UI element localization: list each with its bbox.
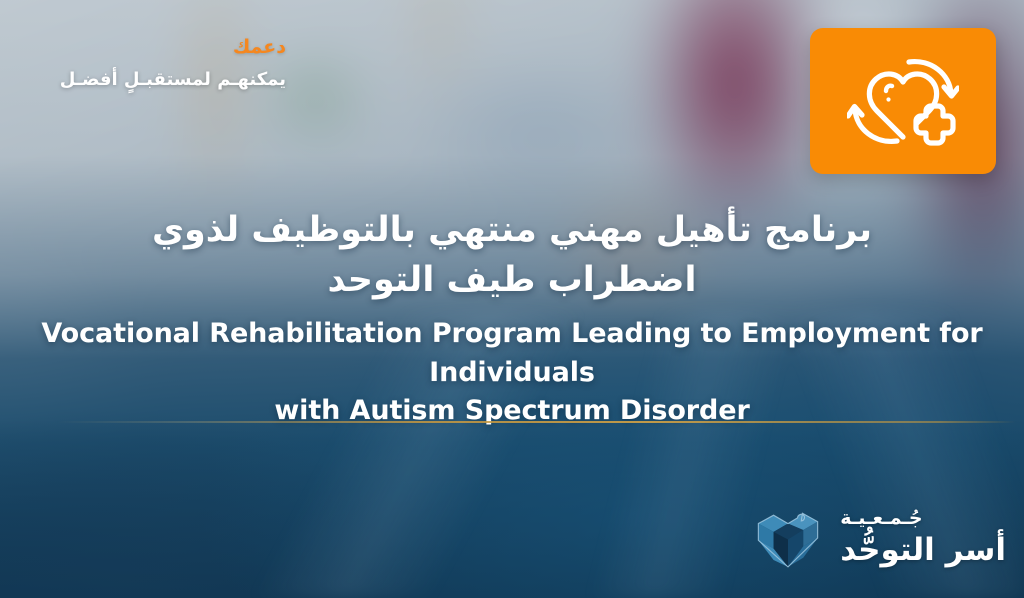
headline-english-line-2: with Autism Spectrum Disorder bbox=[24, 392, 1000, 430]
headline-arabic-line-1: برنامج تأهيل مهني منتهي بالتوظيف لذوي bbox=[24, 206, 1000, 256]
headline-english: Vocational Rehabilitation Program Leadin… bbox=[24, 315, 1000, 430]
heart-plus-renewal-icon bbox=[847, 49, 959, 153]
eyebrow-kicker: دعمك bbox=[0, 36, 286, 59]
headline-english-line-1: Vocational Rehabilitation Program Leadin… bbox=[24, 315, 1000, 392]
association-wordmark: جُـمـعـيـة أسر التوحُّد bbox=[840, 508, 1006, 568]
gold-divider bbox=[56, 421, 1016, 423]
puzzle-heart-logo bbox=[750, 500, 826, 576]
headline-arabic-line-2: اضطراب طيف التوحد bbox=[24, 256, 1000, 306]
eyebrow-subline: يمكنهـم لمستقبـلٍ أفضـل bbox=[0, 68, 286, 91]
promotional-banner: دعمك يمكنهـم لمستقبـلٍ أفضـل bbox=[0, 0, 1024, 598]
association-name-line-2: أسر التوحُّد bbox=[840, 532, 1006, 569]
eyebrow-block: دعمك يمكنهـم لمستقبـلٍ أفضـل bbox=[0, 36, 286, 91]
headline-block: برنامج تأهيل مهني منتهي بالتوظيف لذوي اض… bbox=[0, 206, 1024, 430]
program-icon-card bbox=[810, 28, 996, 174]
association-logo-lockup: جُـمـعـيـة أسر التوحُّد bbox=[750, 500, 1006, 576]
association-name-line-1: جُـمـعـيـة bbox=[840, 508, 1006, 530]
headline-arabic: برنامج تأهيل مهني منتهي بالتوظيف لذوي اض… bbox=[24, 206, 1000, 305]
